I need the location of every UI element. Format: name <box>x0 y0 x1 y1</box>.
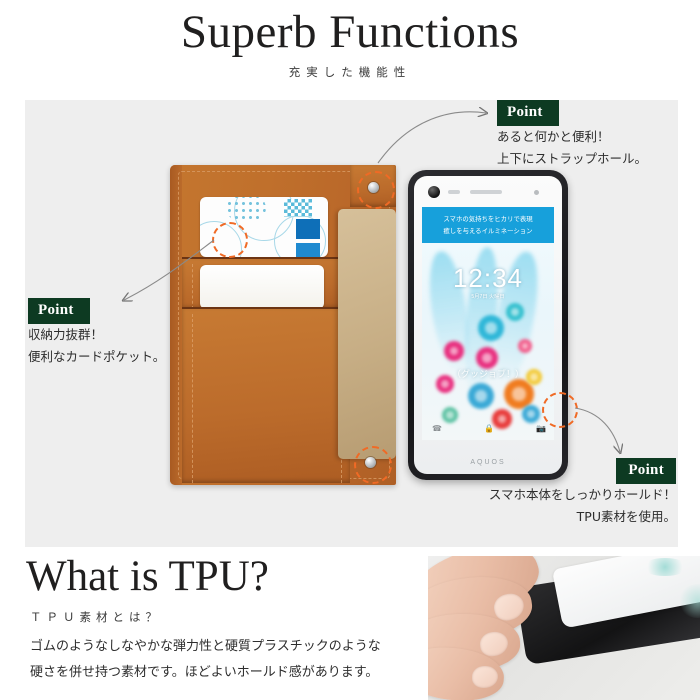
callout-strap-hole: Point あると何かと便利！ 上下にストラップホール。 <box>497 100 647 170</box>
point-badge: Point <box>497 100 559 126</box>
front-camera-icon <box>428 186 440 198</box>
tpu-body-line-2: 硬さを併せ持つ素材です。ほどよいホールド感があります。 <box>30 660 430 686</box>
screen-overlay-text: （グッジョブ！） <box>422 367 554 380</box>
callout-line-2: 便利なカードポケット。 <box>28 346 165 368</box>
phone-icon: ☎ <box>432 424 442 433</box>
point-badge: Point <box>616 458 676 484</box>
tpu-hold-highlight <box>542 392 578 428</box>
sensor-icon <box>448 190 460 194</box>
tpu-section-subtitle: ＴＰＵ素材とは？ <box>30 609 162 625</box>
phone-screen: スマホの気持ちをヒカリで表現 癒しを与えるイルミネーション 12:34 5月7日… <box>422 207 554 440</box>
snap-button-top <box>368 182 379 193</box>
tpu-section-body: ゴムのようなしなやかな弾力性と硬質プラスチックのような 硬さを併せ持つ素材です。… <box>30 634 430 686</box>
white-card <box>200 265 324 309</box>
banner-line-1: スマホの気持ちをヒカリで表現 <box>422 213 554 225</box>
banner-line-2: 癒しを与えるイルミネーション <box>422 225 554 237</box>
leather-wallet-case-image <box>170 165 396 485</box>
callout-line-2: 上下にストラップホール。 <box>497 148 647 170</box>
callout-line-1: スマホ本体をしっかりホールド！ <box>452 484 676 506</box>
point-badge: Point <box>28 298 90 324</box>
tpu-flex-photo <box>428 556 700 700</box>
earpiece-speaker-icon <box>470 190 502 194</box>
tpu-body-line-1: ゴムのようなしなやかな弾力性と硬質プラスチックのような <box>30 634 430 660</box>
screen-banner: スマホの気持ちをヒカリで表現 癒しを与えるイルミネーション <box>422 207 554 243</box>
product-feature-infographic: Superb Functions 充実した機能性 <box>0 0 700 700</box>
lockscreen-date: 5月7日 火曜日 <box>422 293 554 300</box>
smartphone-image: スマホの気持ちをヒカリで表現 癒しを与えるイルミネーション 12:34 5月7日… <box>408 170 568 480</box>
page-title: Superb Functions <box>0 9 700 56</box>
lock-icon: 🔒 <box>484 424 494 433</box>
card-pocket-highlight <box>212 222 248 258</box>
tpu-section-title: What is TPU? <box>26 555 269 598</box>
page-header: Superb Functions 充実した機能性 <box>0 0 700 100</box>
callout-line-1: あると何かと便利！ <box>497 126 647 148</box>
callout-tpu-hold: Point スマホ本体をしっかりホールド！ TPU素材を使用。 <box>452 458 676 528</box>
camera-icon: 📷 <box>536 424 546 433</box>
phone-top-bezel <box>414 176 562 206</box>
card-pocket-lower <box>182 307 350 483</box>
lockscreen-shortcuts: ☎ 🔒 📷 <box>422 424 554 438</box>
page-subtitle: 充実した機能性 <box>0 64 700 80</box>
lockscreen-clock: 12:34 <box>422 263 554 294</box>
notification-led-icon <box>534 190 539 195</box>
kraft-card <box>338 209 396 459</box>
photo-decor-speck <box>642 558 688 576</box>
callout-card-pocket: Point 収納力抜群！ 便利なカードポケット。 <box>28 298 165 368</box>
callout-line-1: 収納力抜群！ <box>28 324 165 346</box>
callout-line-2: TPU素材を使用。 <box>452 506 676 528</box>
snap-button-bottom <box>365 457 376 468</box>
phone-body: スマホの気持ちをヒカリで表現 癒しを与えるイルミネーション 12:34 5月7日… <box>414 176 562 474</box>
